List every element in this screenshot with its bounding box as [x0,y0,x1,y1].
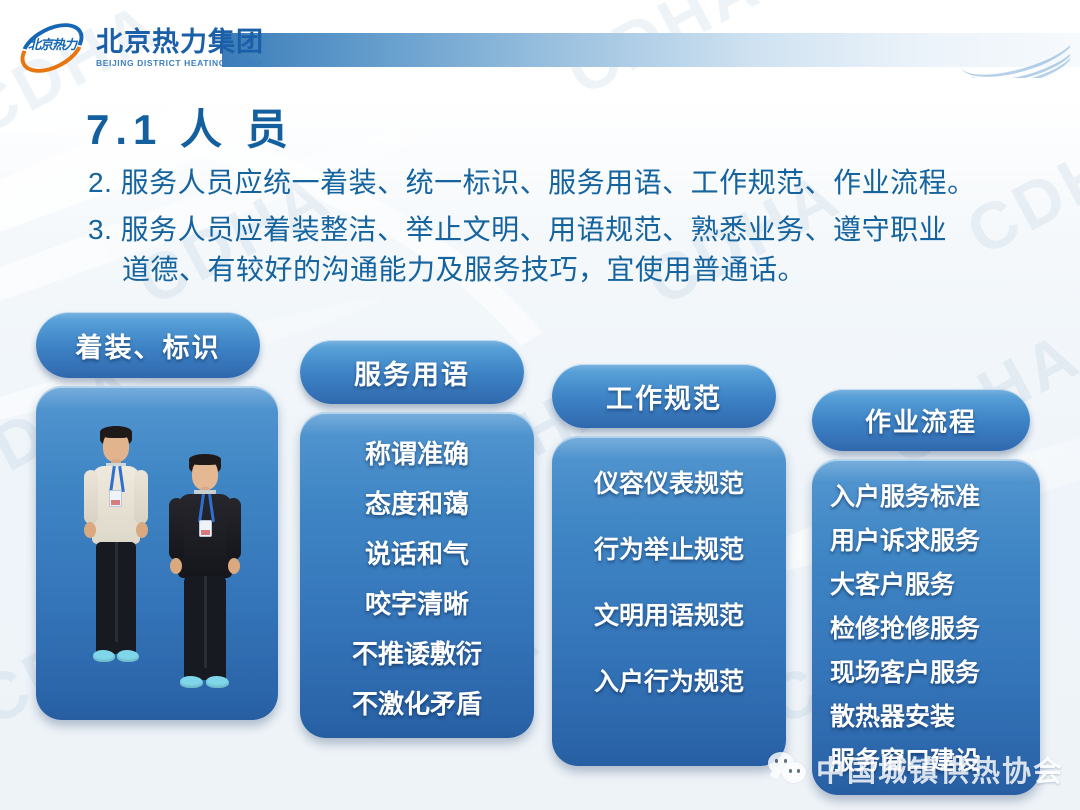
list-item: 检修抢修服务 [830,609,980,645]
wechat-icon [768,752,808,786]
list-item: 大客户服务 [830,565,955,601]
column-title-work-standards[interactable]: 工作规范 [552,364,776,428]
list-service-language: 称谓准确 态度和蔼 说话和气 咬字清晰 不推诿敷衍 不激化矛盾 [300,412,534,721]
column-title-service-language[interactable]: 服务用语 [300,340,524,404]
list-item: 说话和气 [365,534,469,571]
list-work-standards: 仪容仪表规范 行为举止规范 文明用语规范 入户行为规范 [552,436,786,698]
column-service-language: 服务用语 称谓准确 态度和蔼 说话和气 咬字清晰 不推诿敷衍 不激化矛盾 [300,340,534,738]
staff-uniform-photo [36,386,278,720]
list-item: 散热器安装 [830,697,955,733]
staff-person-left [70,426,162,696]
column-panel-dress-identity [36,386,278,720]
list-item: 行为举止规范 [594,530,744,566]
column-dress-identity: 着装、标识 [36,312,278,720]
column-work-standards: 工作规范 仪容仪表规范 行为举止规范 文明用语规范 入户行为规范 [552,364,786,766]
column-title-dress-identity[interactable]: 着装、标识 [36,312,260,378]
list-item: 不激化矛盾 [352,684,482,721]
column-panel-work-process: 入户服务标准 用户诉求服务 大客户服务 检修抢修服务 现场客户服务 散热器安装 … [812,459,1040,795]
list-item: 用户诉求服务 [830,521,980,557]
category-columns: 着装、标识 [0,0,1080,810]
list-item: 不推诿敷衍 [352,634,482,671]
column-work-process: 作业流程 入户服务标准 用户诉求服务 大客户服务 检修抢修服务 现场客户服务 散… [812,389,1040,795]
list-item: 文明用语规范 [594,596,744,632]
list-item: 入户服务标准 [830,477,980,513]
column-panel-service-language: 称谓准确 态度和蔼 说话和气 咬字清晰 不推诿敷衍 不激化矛盾 [300,412,534,738]
wechat-watermark-label: 中国城镇供热协会 [816,748,1064,790]
list-item: 仪容仪表规范 [594,464,744,500]
list-work-process: 入户服务标准 用户诉求服务 大客户服务 检修抢修服务 现场客户服务 散热器安装 … [812,459,1040,777]
column-panel-work-standards: 仪容仪表规范 行为举止规范 文明用语规范 入户行为规范 [552,436,786,766]
list-item: 称谓准确 [365,434,469,471]
wechat-watermark: 中国城镇供热协会 [768,748,1064,790]
list-item: 态度和蔼 [365,484,469,521]
column-title-work-process[interactable]: 作业流程 [812,389,1030,451]
staff-person-right [158,454,254,714]
list-item: 咬字清晰 [365,584,469,621]
list-item: 入户行为规范 [594,662,744,698]
list-item: 现场客户服务 [830,653,980,689]
